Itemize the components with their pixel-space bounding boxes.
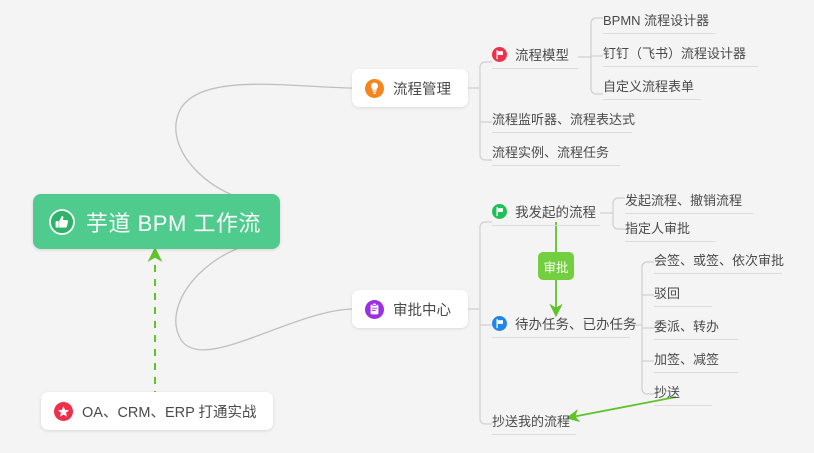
leaf-add-remove-sign[interactable]: 加签、减签 xyxy=(654,349,738,373)
leaf-dingtalk-designer[interactable]: 钉钉（飞书）流程设计器 xyxy=(603,43,758,67)
leaf-countersign[interactable]: 会签、或签、依次审批 xyxy=(654,250,782,274)
branch-label-approval-center: 审批中心 xyxy=(393,299,451,320)
bracket-process-model-children xyxy=(591,18,603,94)
bracket-approval-center-children xyxy=(480,222,492,424)
leaf-process-listener[interactable]: 流程监听器、流程表达式 xyxy=(492,109,632,133)
flag-red-icon xyxy=(492,47,507,62)
edge-root-to-process-management xyxy=(176,84,352,205)
node-todo-done-tasks[interactable]: 待办任务、已办任务 xyxy=(492,313,630,338)
flag-blue-icon xyxy=(492,316,507,331)
leaf-bpmn-designer[interactable]: BPMN 流程设计器 xyxy=(603,10,715,34)
branch-node-approval-center[interactable]: 审批中心 xyxy=(352,290,468,328)
node-label-process-model: 流程模型 xyxy=(515,44,569,64)
root-label: 芋道 BPM 工作流 xyxy=(86,206,261,238)
bracket-my-started-children xyxy=(613,198,625,229)
thumbs-up-icon xyxy=(49,209,75,235)
star-icon xyxy=(54,402,73,421)
edge-root-to-approval-center xyxy=(176,240,352,350)
mindmap-canvas: 芋道 BPM 工作流 流程管理 流程模型 BPMN 流程设计器 钉钉（飞书）流程… xyxy=(0,0,814,453)
bracket-todo-done-children xyxy=(642,262,654,394)
leaf-custom-form[interactable]: 自定义流程表单 xyxy=(603,76,701,100)
bracket-process-management-children xyxy=(480,62,492,160)
flag-green-icon xyxy=(492,204,507,219)
leaf-assignee-approval[interactable]: 指定人审批 xyxy=(625,218,715,242)
leaf-process-instance[interactable]: 流程实例、流程任务 xyxy=(492,142,620,166)
lightbulb-icon xyxy=(365,79,384,98)
node-label-todo-done-tasks: 待办任务、已办任务 xyxy=(515,313,637,333)
approval-tag-label: 审批 xyxy=(543,257,568,276)
integration-note[interactable]: OA、CRM、ERP 打通实战 xyxy=(41,392,273,430)
branch-node-process-management[interactable]: 流程管理 xyxy=(352,69,468,107)
branch-label-process-management: 流程管理 xyxy=(393,78,451,99)
node-process-model[interactable]: 流程模型 xyxy=(492,44,578,69)
node-label-my-started-flows: 我发起的流程 xyxy=(515,201,596,221)
leaf-delegate-transfer[interactable]: 委派、转办 xyxy=(654,316,738,340)
clipboard-icon xyxy=(365,300,384,319)
leaf-cc-my-flows[interactable]: 抄送我的流程 xyxy=(492,411,576,435)
node-my-started-flows[interactable]: 我发起的流程 xyxy=(492,201,600,226)
integration-note-label: OA、CRM、ERP 打通实战 xyxy=(82,401,257,422)
leaf-reject[interactable]: 驳回 xyxy=(654,283,712,307)
leaf-cc[interactable]: 抄送 xyxy=(654,382,712,406)
leaf-start-cancel-flow[interactable]: 发起流程、撤销流程 xyxy=(625,190,753,214)
root-node[interactable]: 芋道 BPM 工作流 xyxy=(33,194,280,249)
approval-tag[interactable]: 审批 xyxy=(538,252,574,280)
